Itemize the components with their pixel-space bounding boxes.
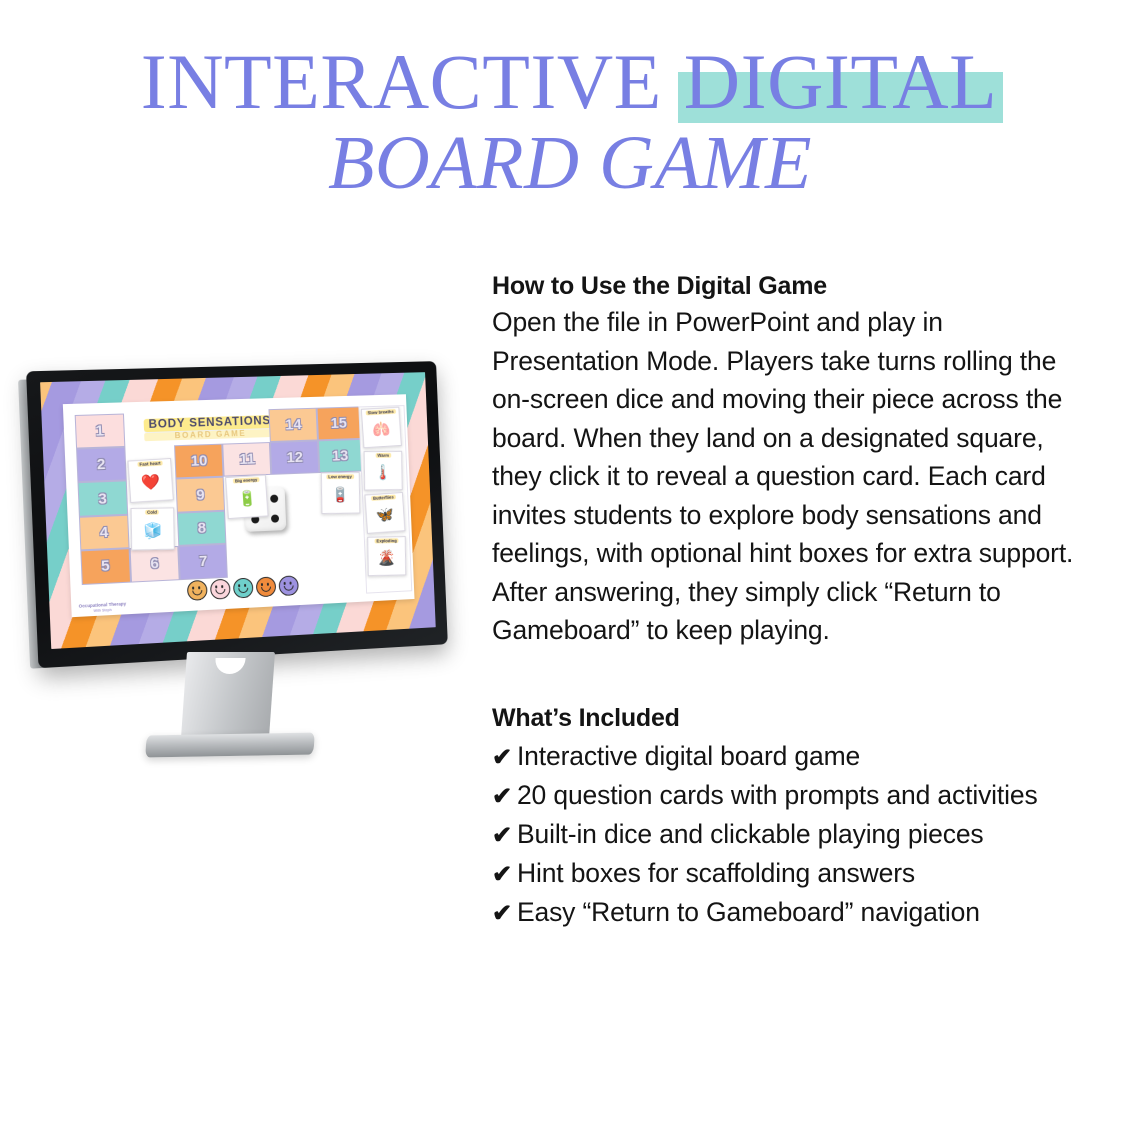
- title-line-2: BOARD GAME: [0, 126, 1140, 200]
- board-tile-number: 11: [239, 451, 255, 469]
- board-tile-13[interactable]: 13: [318, 439, 363, 474]
- board-tile-number: 10: [190, 452, 207, 470]
- board-tile-number: 6: [150, 555, 159, 573]
- feature-item: ✔Interactive digital board game: [492, 737, 1092, 776]
- title-highlight-digital: DIGITAL: [682, 44, 999, 120]
- game-pieces-row: [187, 575, 299, 601]
- stand-cable-cutout: [214, 658, 245, 674]
- sensation-card-caption: Warm: [375, 453, 390, 458]
- feature-item: ✔Easy “Return to Gameboard” navigation: [492, 893, 1092, 932]
- sensation-card-art-icon: 🔋: [228, 483, 267, 516]
- monitor-stand-base: [145, 733, 315, 758]
- board-tile-number: 3: [98, 490, 107, 508]
- board-tile-10[interactable]: 10: [174, 444, 224, 479]
- monitor-display: BODY SENSATIONS BOARD GAME Game: [26, 361, 448, 668]
- feature-list: ✔Interactive digital board game✔20 quest…: [492, 737, 1092, 932]
- sensation-card[interactable]: Exploding🌋: [367, 536, 406, 576]
- board-tile-2[interactable]: 2: [76, 447, 127, 483]
- board-tile-6[interactable]: 6: [129, 546, 179, 582]
- board-tile-3[interactable]: 3: [77, 481, 128, 517]
- dice-pip: [270, 494, 278, 502]
- title-highlight-text: DIGITAL: [684, 38, 997, 125]
- sensation-card-caption: Cold: [145, 509, 159, 514]
- sensation-card-art-icon: 🌡️: [366, 458, 401, 487]
- game-piece-smiley[interactable]: [187, 580, 208, 601]
- board-tile-number: 14: [285, 416, 302, 433]
- feature-item-label: Interactive digital board game: [517, 741, 860, 771]
- sensation-card-art-icon: 🧊: [132, 515, 172, 547]
- how-to-section: How to Use the Digital Game Open the fil…: [492, 272, 1092, 650]
- game-piece-smiley[interactable]: [210, 578, 231, 599]
- sensation-card-art-icon: ❤️: [130, 466, 172, 500]
- board-tile-9[interactable]: 9: [176, 477, 226, 512]
- sensation-card-caption: Low energy: [327, 475, 354, 480]
- how-to-heading: How to Use the Digital Game: [492, 272, 1092, 301]
- page-title: INTERACTIVE DIGITAL BOARD GAME: [0, 44, 1140, 201]
- monitor-screen: BODY SENSATIONS BOARD GAME Game: [40, 372, 436, 649]
- feature-item-label: Easy “Return to Gameboard” navigation: [517, 897, 980, 927]
- board-tile-4[interactable]: 4: [79, 515, 130, 551]
- board-tile-number: 5: [101, 558, 110, 576]
- game-piece-smiley[interactable]: [233, 577, 254, 598]
- board-tile-1[interactable]: 1: [74, 413, 125, 449]
- board-tile-number: 15: [330, 415, 347, 432]
- sensation-card[interactable]: Big energy🔋: [225, 475, 269, 519]
- feature-item: ✔Built-in dice and clickable playing pie…: [492, 815, 1092, 854]
- board-tile-8[interactable]: 8: [177, 511, 227, 547]
- feature-item-label: Hint boxes for scaffolding answers: [517, 858, 915, 888]
- sensation-card[interactable]: Butterflies🦋: [365, 492, 406, 534]
- board-tile-number: 9: [196, 486, 205, 503]
- sensation-card[interactable]: Fast heart❤️: [127, 457, 174, 502]
- sensation-card-art-icon: 🦋: [367, 500, 403, 531]
- sensation-card[interactable]: Slow breaths🫁: [361, 406, 402, 447]
- title-line-1-text: INTERACTIVE: [141, 38, 682, 125]
- whats-included-heading: What’s Included: [492, 704, 1092, 733]
- board-footer: Occupational Therapy With Steph: [79, 601, 127, 613]
- board-tile-number: 2: [97, 456, 106, 474]
- check-icon: ✔: [492, 900, 512, 927]
- game-board-inner: BODY SENSATIONS BOARD GAME Game: [63, 394, 414, 617]
- check-icon: ✔: [492, 822, 512, 849]
- sensation-card[interactable]: Low energy🪫: [321, 472, 360, 514]
- board-tile-5[interactable]: 5: [80, 548, 131, 584]
- game-piece-smiley[interactable]: [256, 576, 277, 597]
- feature-item: ✔Hint boxes for scaffolding answers: [492, 854, 1092, 893]
- board-tile-7[interactable]: 7: [178, 544, 228, 580]
- dice-pip: [271, 514, 279, 522]
- board-tile-number: 12: [286, 449, 303, 466]
- feature-item-label: Built-in dice and clickable playing piec…: [517, 819, 984, 849]
- feature-item: ✔20 question cards with prompts and acti…: [492, 776, 1092, 815]
- board-tile-number: 13: [332, 447, 349, 464]
- sensation-card-art-icon: 🫁: [363, 414, 399, 444]
- sensation-card-art-icon: 🌋: [369, 544, 404, 573]
- how-to-body: Open the file in PowerPoint and play in …: [492, 303, 1092, 650]
- board-tile-12[interactable]: 12: [270, 440, 319, 475]
- monitor-bezel: BODY SENSATIONS BOARD GAME Game: [26, 361, 448, 668]
- board-tile-number: 4: [99, 524, 108, 542]
- monitor-illustration: BODY SENSATIONS BOARD GAME Game: [26, 360, 466, 790]
- sensation-card-caption: Exploding: [375, 539, 399, 544]
- monitor-stand-neck: [181, 652, 275, 738]
- board-tile-14[interactable]: 14: [269, 407, 318, 442]
- sensation-card-caption: Fast heart: [136, 460, 161, 466]
- board-title: BODY SENSATIONS BOARD GAME: [143, 412, 276, 442]
- check-icon: ✔: [492, 744, 512, 771]
- whats-included-section: What’s Included ✔Interactive digital boa…: [492, 704, 1092, 932]
- description-column: How to Use the Digital Game Open the fil…: [492, 272, 1092, 931]
- check-icon: ✔: [492, 783, 512, 810]
- game-board: BODY SENSATIONS BOARD GAME Game: [63, 394, 414, 617]
- title-line-1: INTERACTIVE DIGITAL: [0, 44, 1140, 120]
- feature-item-label: 20 question cards with prompts and activ…: [517, 780, 1038, 810]
- sensation-card[interactable]: Warm🌡️: [364, 450, 403, 489]
- board-tile-number: 1: [95, 422, 104, 440]
- board-tile-15[interactable]: 15: [316, 406, 361, 440]
- board-tile-11[interactable]: 11: [222, 442, 271, 477]
- check-icon: ✔: [492, 861, 512, 888]
- board-tile-number: 7: [199, 553, 208, 570]
- sensation-card-art-icon: 🪫: [323, 480, 358, 511]
- board-tile-number: 8: [197, 520, 206, 537]
- sensation-card[interactable]: Cold🧊: [130, 507, 174, 550]
- game-piece-smiley[interactable]: [278, 575, 298, 596]
